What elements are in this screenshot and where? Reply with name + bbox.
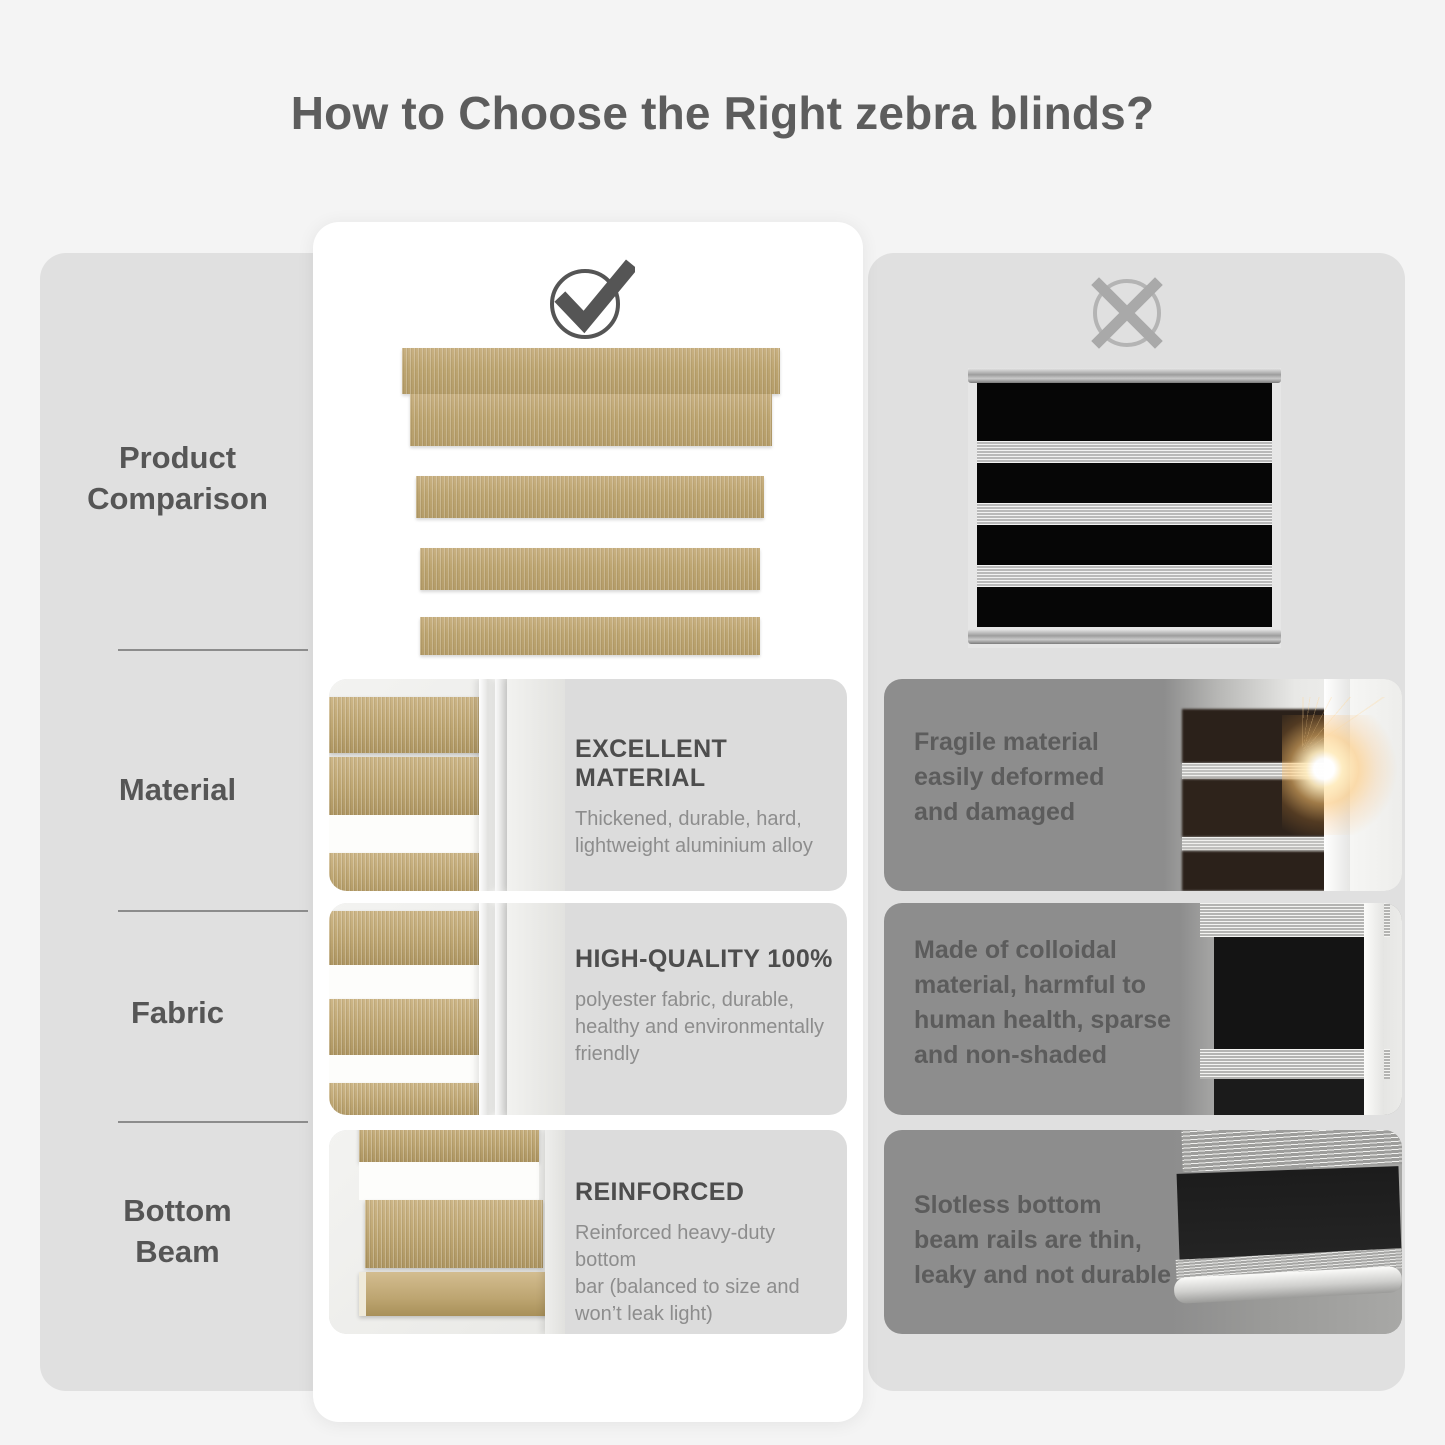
row-divider-2 bbox=[118, 910, 308, 912]
bad-feature-card-material: Fragile material easily deformed and dam… bbox=[884, 679, 1402, 891]
row-divider-1 bbox=[118, 649, 308, 651]
good-feature-card-fabric: HIGH-QUALITY 100% polyester fabric, dura… bbox=[329, 903, 847, 1115]
good-bottom-beam-image bbox=[329, 1130, 565, 1334]
body-line: healthy and environmentally bbox=[575, 1014, 837, 1041]
bad-text-line: Slotless bottom bbox=[914, 1188, 1194, 1223]
bad-text-line: Made of colloidal bbox=[914, 933, 1194, 968]
bad-feature-card-fabric: Made of colloidal material, harmful to h… bbox=[884, 903, 1402, 1115]
row-label-line-1: Product bbox=[40, 438, 315, 479]
row-label-line-1: Fabric bbox=[40, 993, 315, 1034]
good-bottom-beam-heading: REINFORCED bbox=[575, 1178, 837, 1207]
good-fabric-body: polyester fabric, durable, healthy and e… bbox=[575, 987, 837, 1068]
row-label-product-comparison: Product Comparison bbox=[40, 438, 315, 520]
good-feature-card-bottom-beam: REINFORCED Reinforced heavy-duty bottom … bbox=[329, 1130, 847, 1334]
row-label-line-1: Material bbox=[40, 770, 315, 811]
body-line: polyester fabric, durable, bbox=[575, 987, 837, 1014]
row-divider-3 bbox=[118, 1121, 308, 1123]
row-label-fabric: Fabric bbox=[40, 993, 315, 1034]
good-fabric-image bbox=[329, 903, 565, 1115]
bad-text-line: beam rails are thin, bbox=[914, 1223, 1194, 1258]
bad-text-line: and non-shaded bbox=[914, 1038, 1194, 1073]
cross-circle-icon bbox=[1084, 270, 1170, 356]
good-material-heading: EXCELLENT MATERIAL bbox=[575, 735, 833, 793]
bad-fabric-text: Made of colloidal material, harmful to h… bbox=[914, 933, 1194, 1073]
row-label-material: Material bbox=[40, 770, 315, 811]
bad-product-image bbox=[968, 368, 1281, 648]
bad-text-line: easily deformed bbox=[914, 760, 1184, 795]
bad-fabric-image bbox=[1180, 903, 1402, 1115]
bad-text-line: human health, sparse bbox=[914, 1003, 1194, 1038]
row-label-line-2: Comparison bbox=[40, 479, 315, 520]
bad-bottom-beam-text: Slotless bottom beam rails are thin, lea… bbox=[914, 1188, 1194, 1293]
bad-material-text: Fragile material easily deformed and dam… bbox=[914, 725, 1184, 830]
bad-text-line: and damaged bbox=[914, 795, 1184, 830]
good-bottom-beam-body: Reinforced heavy-duty bottom bar (balanc… bbox=[575, 1220, 837, 1328]
good-material-image bbox=[329, 679, 565, 891]
body-line: won’t leak light) bbox=[575, 1301, 837, 1328]
row-label-line-1: Bottom bbox=[40, 1191, 315, 1232]
row-label-bottom-beam: Bottom Beam bbox=[40, 1191, 315, 1273]
good-material-body: Thickened, durable, hard, lightweight al… bbox=[575, 806, 833, 860]
body-line: friendly bbox=[575, 1041, 837, 1068]
bad-text-line: leaky and not durable bbox=[914, 1258, 1194, 1293]
good-bottom-beam-text: REINFORCED Reinforced heavy-duty bottom … bbox=[575, 1178, 837, 1328]
page-title: How to Choose the Right zebra blinds? bbox=[0, 86, 1445, 140]
row-label-line-2: Beam bbox=[40, 1232, 315, 1273]
good-material-text: EXCELLENT MATERIAL Thickened, durable, h… bbox=[575, 735, 833, 860]
body-line: Thickened, durable, hard, bbox=[575, 806, 833, 833]
bad-bottom-beam-image bbox=[1172, 1130, 1402, 1334]
bad-feature-card-bottom-beam: Slotless bottom beam rails are thin, lea… bbox=[884, 1130, 1402, 1334]
good-fabric-heading: HIGH-QUALITY 100% bbox=[575, 945, 837, 974]
good-product-image bbox=[396, 340, 786, 665]
bad-material-image bbox=[1164, 679, 1402, 891]
check-circle-icon bbox=[543, 252, 635, 344]
bad-text-line: material, harmful to bbox=[914, 968, 1194, 1003]
good-feature-card-material: EXCELLENT MATERIAL Thickened, durable, h… bbox=[329, 679, 847, 891]
good-fabric-text: HIGH-QUALITY 100% polyester fabric, dura… bbox=[575, 945, 837, 1068]
body-line: bar (balanced to size and bbox=[575, 1274, 837, 1301]
body-line: lightweight aluminium alloy bbox=[575, 833, 833, 860]
bad-text-line: Fragile material bbox=[914, 725, 1184, 760]
body-line: Reinforced heavy-duty bottom bbox=[575, 1220, 837, 1274]
row-label-column: Product Comparison Material Fabric Botto… bbox=[40, 253, 315, 1391]
